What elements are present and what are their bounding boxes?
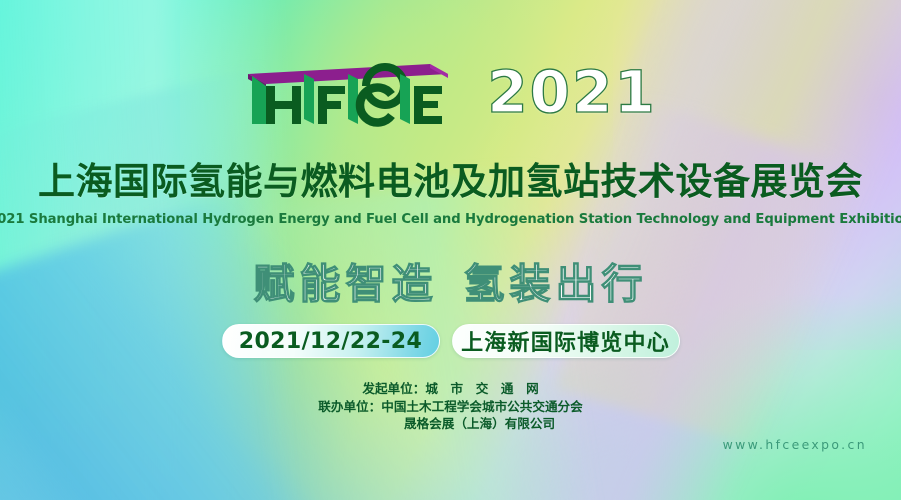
- organizers-block: 发起单位：城 市 交 通 网 联办单位：中国土木工程学会城市公共交通分会 晟格会…: [318, 380, 582, 433]
- info-pill-row: 2021/12/22-24 上海新国际博览中心: [222, 324, 680, 358]
- page-subtitle: 2021 Shanghai International Hydrogen Ene…: [0, 212, 901, 227]
- year-label: 2021: [487, 61, 656, 123]
- slogan-part-1: 赋能智造: [254, 260, 438, 308]
- slogan-part-2: 氢装出行: [464, 260, 648, 308]
- hfce-logo: [244, 52, 449, 130]
- logo-row: 2021: [244, 52, 656, 134]
- website-url[interactable]: www.hfceexpo.cn: [723, 437, 867, 452]
- coorganizer-line-2: 晟格会展（上海）有限公司: [318, 415, 582, 433]
- banner-content: 2021 上海国际氢能与燃料电池及加氢站技术设备展览会 2021 Shangha…: [0, 0, 901, 500]
- initiator-line: 发起单位：城 市 交 通 网: [318, 380, 582, 398]
- venue-badge: 上海新国际博览中心: [452, 324, 680, 358]
- page-title: 上海国际氢能与燃料电池及加氢站技术设备展览会: [38, 151, 863, 205]
- expo-banner: 2021 上海国际氢能与燃料电池及加氢站技术设备展览会 2021 Shangha…: [0, 0, 901, 500]
- slogan: 赋能智造氢装出行: [254, 250, 648, 310]
- coorganizer-line: 联办单位：中国土木工程学会城市公共交通分会: [318, 398, 582, 416]
- date-badge: 2021/12/22-24: [222, 324, 440, 358]
